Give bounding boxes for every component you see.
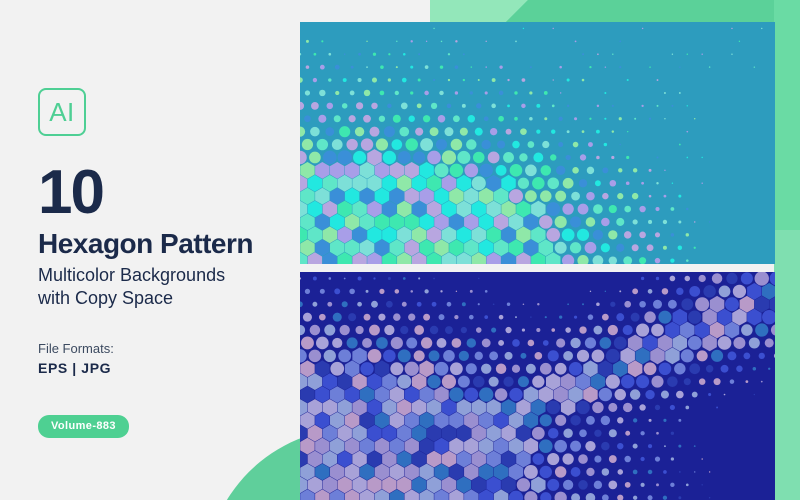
background-green-right-strip: [774, 0, 800, 500]
file-formats-label: File Formats:: [38, 342, 114, 355]
info-column: AI 10 Hexagon Pattern Multicolor Backgro…: [38, 0, 288, 500]
hexagon-pattern-blue: [300, 272, 775, 500]
hexagon-preview-teal[interactable]: [300, 22, 775, 264]
subtitle-line-2: with Copy Space: [38, 287, 225, 310]
file-formats-value: EPS | JPG: [38, 361, 111, 375]
volume-badge: Volume-883: [38, 415, 129, 438]
subtitle-line-1: Multicolor Backgrounds: [38, 264, 225, 287]
hexagon-preview-blue[interactable]: [300, 272, 775, 500]
hexagon-pattern-teal: [300, 22, 775, 264]
background-green-right-soft: [774, 230, 800, 500]
page-title: Hexagon Pattern: [38, 230, 253, 258]
poster-canvas: AI 10 Hexagon Pattern Multicolor Backgro…: [0, 0, 800, 500]
item-count: 10: [38, 162, 103, 224]
ai-badge-label: AI: [49, 99, 75, 125]
page-subtitle: Multicolor Backgrounds with Copy Space: [38, 264, 225, 310]
ai-format-badge: AI: [38, 88, 86, 136]
